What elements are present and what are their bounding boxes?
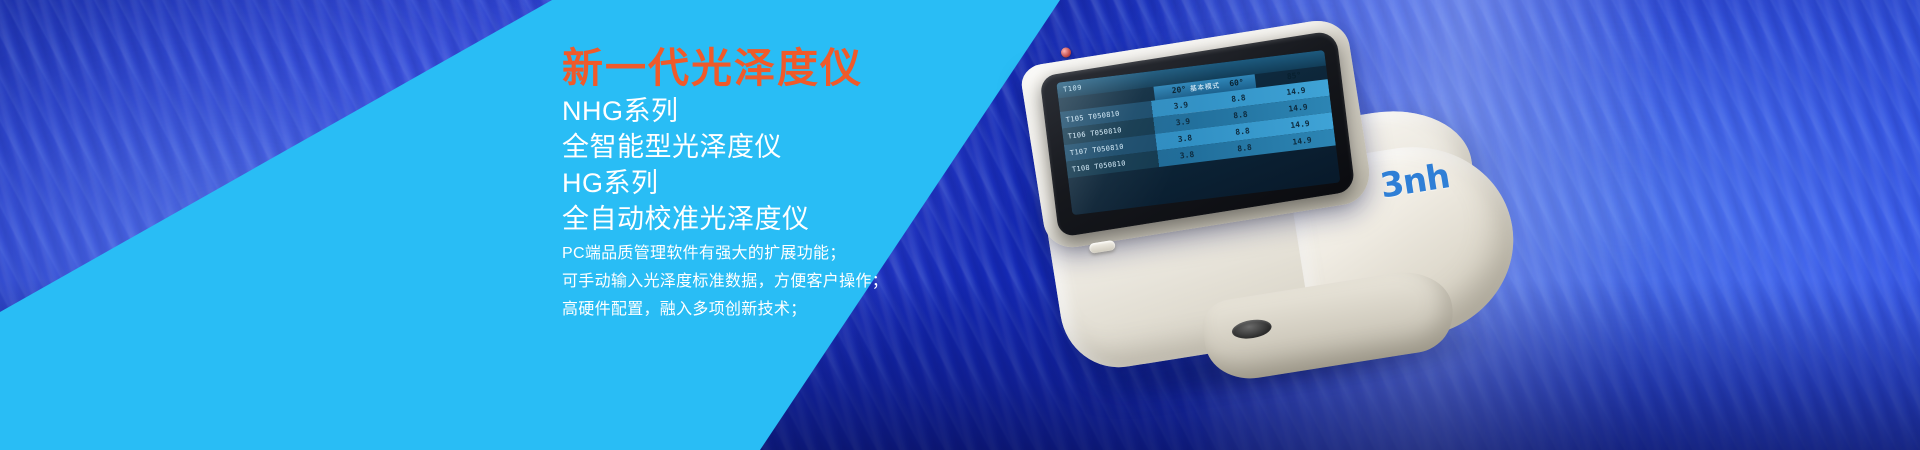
row-value-60: 8.8 bbox=[1215, 140, 1274, 156]
subtitle-line-4: 全自动校准光泽度仪 bbox=[562, 201, 810, 237]
banner-headline: 新一代光泽度仪 bbox=[562, 48, 863, 89]
feature-line-3: 高硬件配置，融入多项创新技术； bbox=[562, 296, 888, 324]
subtitle-line-3: HG系列 bbox=[562, 165, 810, 201]
subtitle-line-2: 全智能型光泽度仪 bbox=[562, 129, 810, 165]
banner-text-block: 新一代光泽度仪 NHG系列 全智能型光泽度仪 HG系列 全自动校准光泽度仪 PC… bbox=[560, 0, 1080, 450]
subtitle-line-1: NHG系列 bbox=[562, 93, 810, 129]
row-value-85: 14.9 bbox=[1273, 133, 1332, 149]
product-banner: 新一代光泽度仪 NHG系列 全智能型光泽度仪 HG系列 全自动校准光泽度仪 PC… bbox=[0, 0, 1920, 450]
device-body: T109 基本模式 10:51 2019.05.08 20° 60° 85° T… bbox=[1020, 6, 1538, 392]
row-value-20: 3.8 bbox=[1158, 147, 1217, 163]
power-led-icon bbox=[1060, 47, 1071, 58]
banner-feature-list: PC端品质管理软件有强大的扩展功能； 可手动输入光泽度标准数据，方便客户操作； … bbox=[562, 240, 888, 324]
feature-line-1: PC端品质管理软件有强大的扩展功能； bbox=[562, 240, 888, 268]
banner-subtitle-list: NHG系列 全智能型光泽度仪 HG系列 全自动校准光泽度仪 bbox=[562, 93, 810, 237]
feature-line-2: 可手动输入光泽度标准数据，方便客户操作； bbox=[562, 268, 888, 296]
gloss-meter-device: T109 基本模式 10:51 2019.05.08 20° 60° 85° T… bbox=[1020, 5, 1560, 432]
device-screen[interactable]: T109 基本模式 10:51 2019.05.08 20° 60° 85° T… bbox=[1056, 50, 1340, 215]
screen-measurement-rows: T105 T050810 3.9 8.8 14.9 T106 T050810 3… bbox=[1060, 79, 1336, 178]
